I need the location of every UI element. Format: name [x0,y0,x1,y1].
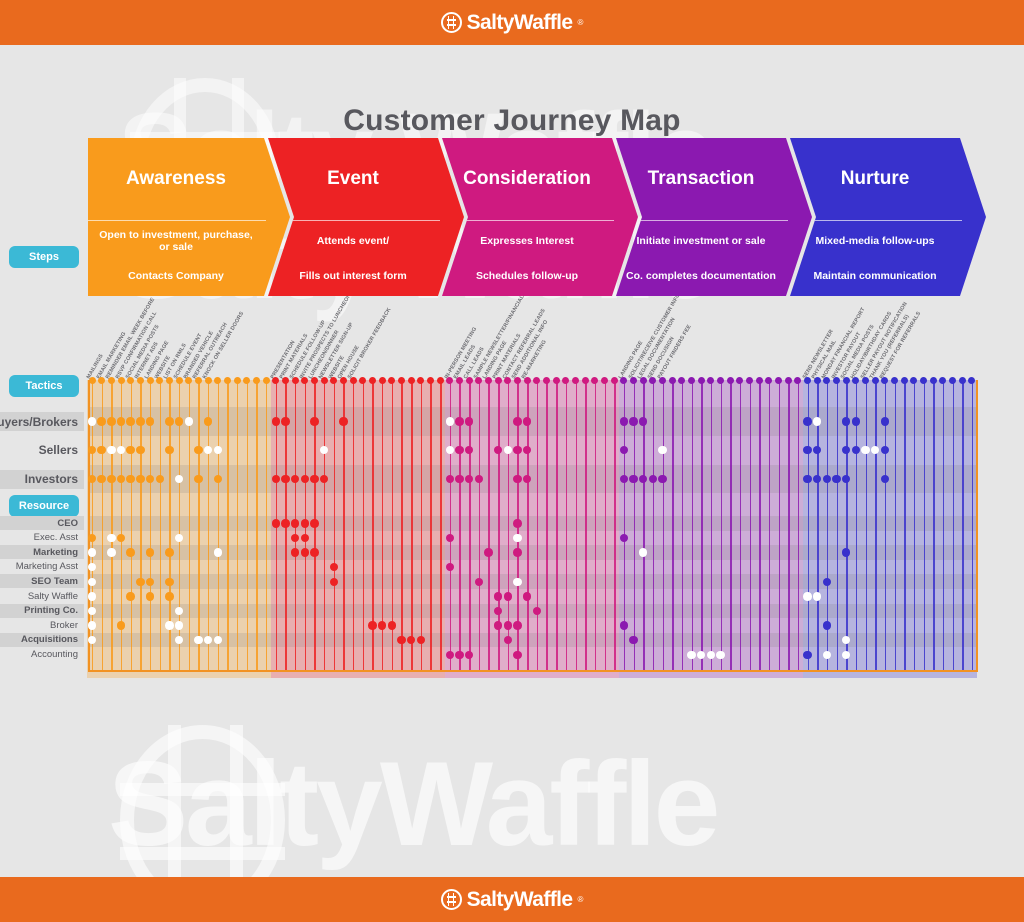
resource-row-label: Marketing [0,545,84,559]
journey-dot[interactable] [658,475,666,483]
tactic-column-head-dot[interactable] [736,377,743,384]
journey-dot[interactable] [88,592,96,600]
journey-dot[interactable] [146,578,154,586]
tactic-label-row: MAILINGSEMAIL MARKETINGREMINDER EMAIL WE… [88,300,988,380]
journey-dot[interactable] [97,417,105,425]
tactic-column-line [430,380,431,670]
journey-dot[interactable] [397,636,405,644]
tactic-column-head-dot[interactable] [939,377,946,384]
resource-row-label: Salty Waffle [0,589,84,603]
journey-dot[interactable] [301,475,309,483]
tactic-column-line [866,380,867,670]
journey-dot[interactable] [484,548,492,556]
tactic-column-head-dot[interactable] [611,377,618,384]
stage-detail-1: Expresses Interest [442,222,612,259]
tactic-column-head-dot[interactable] [833,377,840,384]
tactic-column-head-dot[interactable] [495,377,502,384]
journey-dot[interactable] [455,651,463,659]
tactic-column-head-dot[interactable] [485,377,492,384]
journey-dot[interactable] [823,578,831,586]
grid-row-band [88,589,978,604]
journey-dot[interactable] [658,446,666,454]
tactic-column-head-dot[interactable] [311,377,318,384]
journey-dot[interactable] [136,446,144,454]
tactic-column-head-dot[interactable] [640,377,647,384]
tactic-column-head-dot[interactable] [127,377,134,384]
journey-dot[interactable] [852,417,860,425]
journey-map-page: SaltyWaffle ® Salty Waffle Salty Waffle … [0,0,1024,922]
tactic-column-line [411,380,412,670]
journey-dot[interactable] [446,534,454,542]
tactic-column-line [440,380,441,670]
tactic-column-head-dot[interactable] [282,377,289,384]
journey-dot[interactable] [446,651,454,659]
journey-dot[interactable] [281,417,289,425]
tactic-column-head-dot[interactable] [881,377,888,384]
tactic-column-line [779,380,780,670]
journey-dot[interactable] [513,417,521,425]
journey-dot[interactable] [97,475,105,483]
grid-row-band [88,574,978,589]
journey-dot[interactable] [388,621,396,629]
journey-dot[interactable] [639,548,647,556]
tactic-column-head-dot[interactable] [901,377,908,384]
journey-dot[interactable] [88,548,96,556]
tactic-column-head-dot[interactable] [195,377,202,384]
journey-dot[interactable] [455,475,463,483]
tactic-column-head-dot[interactable] [475,377,482,384]
grid-row-band [88,516,978,531]
stage-detail-2: Contacts Company [88,257,264,294]
journey-dot[interactable] [136,578,144,586]
stage-divider [616,220,788,221]
journey-dot[interactable] [126,592,134,600]
tactic-column-head-dot[interactable] [224,377,231,384]
tactic-column-head-dot[interactable] [330,377,337,384]
persona-row-label: Buyers/Brokers [0,412,84,431]
journey-dot[interactable] [136,417,144,425]
tactic-column-head-dot[interactable] [688,377,695,384]
tactic-column-head-dot[interactable] [543,377,550,384]
tactic-column-head-dot[interactable] [369,377,376,384]
journey-dot[interactable] [107,446,115,454]
journey-dot[interactable] [881,417,889,425]
journey-dot[interactable] [475,578,483,586]
tactic-column-head-dot[interactable] [775,377,782,384]
tactic-column-head-dot[interactable] [669,377,676,384]
journey-dot[interactable] [185,417,193,425]
journey-dot[interactable] [455,446,463,454]
tactic-column-line [895,380,896,670]
journey-dot[interactable] [126,475,134,483]
tactic-column-head-dot[interactable] [785,377,792,384]
journey-dot[interactable] [813,417,821,425]
journey-dot[interactable] [146,417,154,425]
tactic-column-line [256,380,257,670]
tactic-column-head-dot[interactable] [272,377,279,384]
journey-dot[interactable] [504,592,512,600]
tactic-column-line [711,380,712,670]
resource-row-label: Accounting [0,647,84,661]
tactic-column-line [537,380,538,670]
tactic-column-head-dot[interactable] [533,377,540,384]
stage-chevron-event: EventAttends event/Fills out interest fo… [268,138,464,296]
tactic-column-line [672,380,673,670]
journey-dot[interactable] [513,548,521,556]
journey-dot[interactable] [272,417,280,425]
journey-dot[interactable] [165,578,173,586]
tactic-column-line [595,380,596,670]
journey-dot[interactable] [339,417,347,425]
tactic-column-head-dot[interactable] [417,377,424,384]
tactic-column-head-dot[interactable] [620,377,627,384]
tactic-column-head-dot[interactable] [823,377,830,384]
journey-dot[interactable] [291,548,299,556]
journey-dot[interactable] [117,417,125,425]
journey-dot[interactable] [330,578,338,586]
journey-dot[interactable] [165,417,173,425]
journey-dot[interactable] [446,417,454,425]
journey-dot[interactable] [175,621,183,629]
badge-steps: Steps [9,246,79,268]
tactic-column-line [198,380,199,670]
tactic-column-head-dot[interactable] [765,377,772,384]
hash-logo-icon [441,12,462,33]
tactic-column-head-dot[interactable] [582,377,589,384]
resource-row-label: Printing Co. [0,604,84,618]
journey-dot[interactable] [165,548,173,556]
journey-dot[interactable] [513,475,521,483]
tactic-column-head-dot[interactable] [350,377,357,384]
tactic-column-line [972,380,973,670]
journey-dot[interactable] [620,417,628,425]
journey-dot[interactable] [126,417,134,425]
journey-dot[interactable] [165,592,173,600]
tactic-column-head-dot[interactable] [872,377,879,384]
tactic-column-head-dot[interactable] [852,377,859,384]
tactic-column-head-dot[interactable] [408,377,415,384]
journey-dot[interactable] [513,651,521,659]
tactic-column-line [566,380,567,670]
journey-dot[interactable] [107,417,115,425]
tactic-column-head-dot[interactable] [446,377,453,384]
journey-dot[interactable] [310,475,318,483]
journey-dot[interactable] [823,651,831,659]
stage-title: Event [268,138,438,220]
tactic-column-head-dot[interactable] [814,377,821,384]
tactic-column-head-dot[interactable] [234,377,241,384]
tactic-column-head-dot[interactable] [359,377,366,384]
tactic-column-head-dot[interactable] [794,377,801,384]
tactic-column-line [740,380,741,670]
stage-title: Awareness [88,138,264,220]
tactic-column-line [237,380,238,670]
journey-dot[interactable] [88,417,96,425]
journey-dot[interactable] [832,475,840,483]
tactic-column-line [759,380,760,670]
tactic-column-head-dot[interactable] [118,377,125,384]
journey-dot[interactable] [803,651,811,659]
tactic-column-line [401,380,402,670]
stage-title: Nurture [790,138,960,220]
journey-dot[interactable] [639,417,647,425]
journey-dot[interactable] [165,446,173,454]
tactic-column-head-dot[interactable] [292,377,299,384]
journey-dot[interactable] [107,548,115,556]
journey-dot[interactable] [629,417,637,425]
journey-dot[interactable] [513,446,521,454]
tactic-column-head-dot[interactable] [601,377,608,384]
journey-dot[interactable] [494,592,502,600]
page-title: Customer Journey Map [0,104,1024,138]
journey-dot[interactable] [146,592,154,600]
journey-dot[interactable] [813,592,821,600]
journey-dot[interactable] [465,417,473,425]
stage-chevron-transaction: TransactionInitiate investment or saleCo… [616,138,812,296]
tactic-column-head-dot[interactable] [388,377,395,384]
resource-row-label: Acquisitions [0,633,84,647]
tactic-column-line [218,380,219,670]
tactic-column-head-dot[interactable] [98,377,105,384]
resource-row-label: Exec. Asst [0,531,84,545]
badge-tactics: Tactics [9,375,79,397]
stage-chevron-consideration: ConsiderationExpresses InterestSchedules… [442,138,638,296]
journey-dot[interactable] [513,519,521,527]
journey-dot[interactable] [716,651,724,659]
journey-dot[interactable] [291,519,299,527]
journey-dot[interactable] [513,578,521,586]
tactic-column-head-dot[interactable] [214,377,221,384]
tactic-column-head-dot[interactable] [243,377,250,384]
tactic-column-head-dot[interactable] [562,377,569,384]
stage-divider [790,220,962,221]
brand-logo-bottom: SaltyWaffle ® [441,888,584,912]
tactic-column-head-dot[interactable] [504,377,511,384]
tactic-column-head-dot[interactable] [591,377,598,384]
registered-mark-icon: ® [577,895,583,904]
journey-dot[interactable] [803,592,811,600]
tactic-column-head-dot[interactable] [678,377,685,384]
tactic-column-line [247,380,248,670]
tactic-column-head-dot[interactable] [514,377,521,384]
journey-dot[interactable] [513,534,521,542]
journey-dot[interactable] [494,621,502,629]
tactic-column-head-dot[interactable] [166,377,173,384]
tactic-column-line [682,380,683,670]
tactic-column-line [363,380,364,670]
tactic-column-head-dot[interactable] [437,377,444,384]
journey-dot[interactable] [310,417,318,425]
tactic-column-head-dot[interactable] [456,377,463,384]
tactic-label: SOLICIT BROKER FEEDBACK [347,307,393,380]
badge-resource: Resource [9,495,79,517]
tactic-column-head-dot[interactable] [891,377,898,384]
stage-divider [442,220,614,221]
grid-edge-right [976,380,978,672]
journey-dot[interactable] [687,651,695,659]
journey-dot[interactable] [194,636,202,644]
journey-dot[interactable] [842,417,850,425]
stage-detail-1: Mixed-media follow-ups [790,222,960,259]
tactic-column-head-dot[interactable] [263,377,270,384]
grid-row-band [88,560,978,575]
tactic-column-line [769,380,770,670]
hash-logo-icon [441,889,462,910]
brand-name: SaltyWaffle [467,888,573,912]
tactic-column-head-dot[interactable] [108,377,115,384]
journey-dot[interactable] [214,475,222,483]
journey-dot[interactable] [707,651,715,659]
tactic-column-line [837,380,838,670]
tactic-column-head-dot[interactable] [727,377,734,384]
journey-dot[interactable] [620,534,628,542]
journey-dot[interactable] [126,548,134,556]
stage-chevron-awareness: AwarenessOpen to investment, purchase, o… [88,138,290,296]
tactic-column-line [605,380,606,670]
tactic-column-head-dot[interactable] [205,377,212,384]
journey-dot[interactable] [455,417,463,425]
resource-row-label: SEO Team [0,574,84,588]
tactic-column-head-dot[interactable] [301,377,308,384]
tactic-column-head-dot[interactable] [649,377,656,384]
journey-dot[interactable] [629,636,637,644]
tactic-column-line [875,380,876,670]
journey-dot[interactable] [136,475,144,483]
journey-dot[interactable] [175,417,183,425]
bottom-brand-bar: SaltyWaffle ® [0,877,1024,922]
tactic-column-line [788,380,789,670]
tactic-column-line [556,380,557,670]
stage-divider [268,220,440,221]
tactic-column-line [160,380,161,670]
tactic-column-head-dot[interactable] [949,377,956,384]
tactic-column-head-dot[interactable] [156,377,163,384]
tactic-column-head-dot[interactable] [524,377,531,384]
journey-dot[interactable] [504,621,512,629]
journey-dot[interactable] [513,621,521,629]
journey-dot[interactable] [823,621,831,629]
journey-dot[interactable] [146,548,154,556]
tactic-column-head-dot[interactable] [659,377,666,384]
top-brand-bar: SaltyWaffle ® [0,0,1024,45]
tactic-column-head-dot[interactable] [379,377,386,384]
tactic-column-line [324,380,325,670]
journey-dot[interactable] [281,519,289,527]
tactic-column-head-dot[interactable] [427,377,434,384]
tactic-column-head-dot[interactable] [553,377,560,384]
tactic-column-head-dot[interactable] [698,377,705,384]
journey-dot[interactable] [620,621,628,629]
tactic-column-head-dot[interactable] [862,377,869,384]
journey-dot[interactable] [107,475,115,483]
tactic-column-head-dot[interactable] [930,377,937,384]
tactic-column-line [546,380,547,670]
journey-dot[interactable] [204,417,212,425]
resource-row-label: Broker [0,618,84,632]
tactic-column-line [914,380,915,670]
tactic-column-head-dot[interactable] [137,377,144,384]
journey-dot[interactable] [368,621,376,629]
stage-title: Transaction [616,138,786,220]
journey-dot[interactable] [310,548,318,556]
journey-dot[interactable] [214,548,222,556]
journey-dot[interactable] [533,607,541,615]
tactic-column-head-dot[interactable] [843,377,850,384]
journey-dot[interactable] [107,534,115,542]
tactic-column-head-dot[interactable] [340,377,347,384]
tactic-column-line [730,380,731,670]
journey-dot[interactable] [301,534,309,542]
journey-dot[interactable] [310,519,318,527]
tactic-column-head-dot[interactable] [253,377,260,384]
journey-dot[interactable] [301,519,309,527]
tactic-column-head-dot[interactable] [959,377,966,384]
tactic-column-head-dot[interactable] [398,377,405,384]
tactic-column-head-dot[interactable] [707,377,714,384]
tactic-column-head-dot[interactable] [321,377,328,384]
stage-divider [88,220,266,221]
tactic-column-line [653,380,654,670]
tactic-column-line [421,380,422,670]
journey-dot[interactable] [194,475,202,483]
journey-dot[interactable] [281,475,289,483]
tactic-column-line [663,380,664,670]
tactic-column-line [479,380,480,670]
journey-dot[interactable] [272,475,280,483]
resource-row-label: Marketing Asst [0,560,84,574]
journey-dot[interactable] [301,548,309,556]
journey-dot[interactable] [523,417,531,425]
stage-detail-1: Attends event/ [268,222,438,259]
tactic-column-head-dot[interactable] [176,377,183,384]
tactic-column-line [798,380,799,670]
journey-dot[interactable] [378,621,386,629]
stage-chevron-nurture: NurtureMixed-media follow-upsMaintain co… [790,138,986,296]
tactic-column-head-dot[interactable] [466,377,473,384]
tactic-column-head-dot[interactable] [804,377,811,384]
journey-dot[interactable] [272,519,280,527]
journey-dot[interactable] [117,621,125,629]
tactic-column-head-dot[interactable] [630,377,637,384]
journey-dot[interactable] [803,475,811,483]
tactic-column-line [614,380,615,670]
tactic-column-line [904,380,905,670]
tactic-column-head-dot[interactable] [717,377,724,384]
tactic-column-line [488,380,489,670]
journey-dot[interactable] [629,475,637,483]
tactic-column-head-dot[interactable] [756,377,763,384]
tactic-column-head-dot[interactable] [185,377,192,384]
journey-dot[interactable] [88,578,96,586]
stage-detail-2: Maintain communication [790,257,960,294]
tactic-column-head-dot[interactable] [572,377,579,384]
journey-dot[interactable] [165,621,173,629]
journey-dot[interactable] [803,417,811,425]
journey-dot[interactable] [156,475,164,483]
tactic-column-head-dot[interactable] [147,377,154,384]
journey-dot[interactable] [194,446,202,454]
tactic-column-head-dot[interactable] [920,377,927,384]
tactic-column-line [924,380,925,670]
resource-row-label: CEO [0,516,84,530]
journey-dot[interactable] [523,592,531,600]
journey-dot[interactable] [88,621,96,629]
tactic-column-head-dot[interactable] [746,377,753,384]
tactic-column-line [721,380,722,670]
tactic-column-line [353,380,354,670]
tactic-column-head-dot[interactable] [910,377,917,384]
tactic-column-line [334,380,335,670]
